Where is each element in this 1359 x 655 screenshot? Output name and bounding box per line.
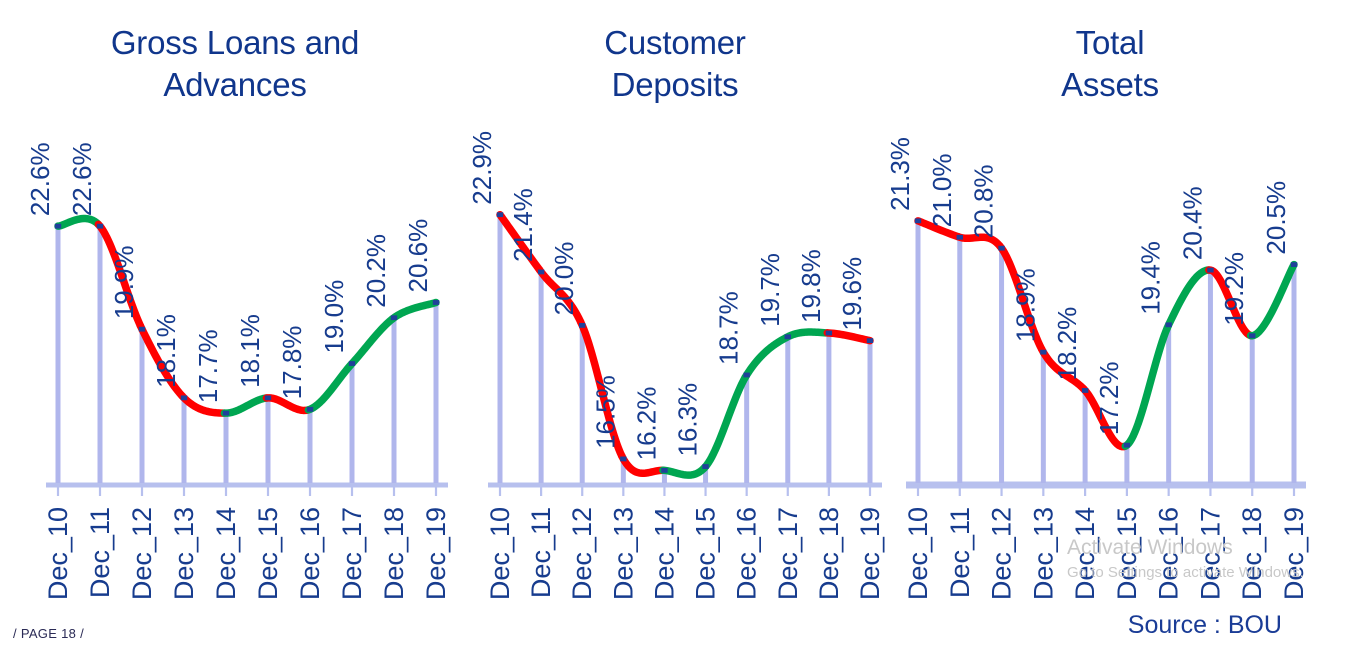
data-point-marker [223, 411, 229, 416]
data-point-marker [1291, 262, 1297, 267]
source-note: Source : BOU [1128, 611, 1282, 640]
series-segment [704, 378, 745, 469]
x-axis-category-label: Dec_13 [169, 507, 199, 600]
data-value-label: 21.0% [927, 154, 957, 228]
series-segment [58, 219, 98, 227]
data-value-label: 18.7% [714, 291, 744, 365]
x-axis-category-label: Dec_15 [691, 507, 721, 600]
data-value-label: 18.1% [151, 314, 181, 388]
data-value-label: 21.3% [885, 137, 915, 211]
data-value-label: 16.5% [590, 375, 620, 449]
data-point-marker [702, 464, 708, 469]
series-segment [308, 365, 350, 410]
series-segment [224, 398, 266, 413]
data-value-label: 22.6% [67, 142, 97, 216]
data-value-label: 22.6% [25, 142, 55, 216]
data-point-marker [1124, 443, 1130, 448]
data-value-label: 19.0% [319, 280, 349, 354]
x-axis-category-label: Dec_14 [211, 507, 241, 600]
x-axis-category-label: Dec_16 [732, 507, 762, 600]
data-point-marker [307, 407, 313, 412]
data-value-label: 19.2% [1219, 252, 1249, 326]
x-axis-category-label: Dec_13 [1028, 507, 1058, 600]
x-axis-category-label: Dec_14 [649, 507, 679, 600]
x-axis-category-label: Dec_17 [773, 507, 803, 600]
data-value-label: 20.4% [1177, 186, 1207, 260]
data-value-label: 18.1% [235, 314, 265, 388]
x-axis-category-label: Dec_15 [253, 507, 283, 600]
series-segment [1167, 270, 1209, 328]
data-point-marker [915, 218, 921, 223]
x-axis-category-label: Dec_18 [1237, 507, 1267, 600]
data-value-label: 21.4% [508, 188, 538, 262]
data-point-marker [1082, 388, 1088, 393]
x-axis-category-label: Dec_19 [421, 507, 451, 600]
data-value-label: 18.9% [1010, 268, 1040, 342]
slide-canvas: Gross Loans and Advances 22.6%22.6%19.9%… [0, 0, 1359, 655]
data-point-marker [826, 331, 832, 336]
page-marker: / PAGE 18 / [13, 626, 84, 641]
data-point-marker [139, 327, 145, 332]
data-point-marker [433, 300, 439, 305]
data-point-marker [1207, 268, 1213, 273]
data-value-label: 17.7% [193, 329, 223, 403]
x-axis-category-label: Dec_19 [1279, 507, 1309, 600]
data-value-label: 20.2% [361, 234, 391, 308]
data-point-marker [55, 224, 61, 229]
data-point-marker [998, 246, 1004, 251]
chart-panel-gross-loans: Gross Loans and Advances 22.6%22.6%19.9%… [0, 0, 470, 615]
data-point-marker [97, 224, 103, 229]
chart-plot-gross-loans: 22.6%22.6%19.9%18.1%17.7%18.1%17.8%19.0%… [0, 0, 470, 615]
data-point-marker [181, 395, 187, 400]
x-axis-category-label: Dec_10 [43, 507, 73, 600]
data-point-marker [620, 457, 626, 462]
data-point-marker [497, 212, 503, 217]
x-axis-category-label: Dec_10 [903, 507, 933, 600]
x-axis-category-label: Dec_16 [1154, 507, 1184, 600]
x-axis-category-label: Dec_17 [1195, 507, 1225, 600]
data-value-label: 17.2% [1094, 361, 1124, 435]
x-axis-category-label: Dec_12 [987, 507, 1017, 600]
chart-plot-customer-deposits: 22.9%21.4%20.0%16.5%16.2%16.3%18.7%19.7%… [455, 0, 895, 615]
series-segment [392, 302, 436, 318]
x-axis-category-label: Dec_10 [485, 507, 515, 600]
x-axis-category-label: Dec_14 [1070, 507, 1100, 600]
data-value-label: 17.8% [277, 326, 307, 400]
chart-plot-total-assets: 21.3%21.0%20.8%18.9%18.2%17.2%19.4%20.4%… [880, 0, 1340, 615]
series-segment [786, 332, 827, 338]
data-point-marker [1040, 350, 1046, 355]
data-value-label: 19.4% [1136, 241, 1166, 315]
data-value-label: 18.2% [1052, 307, 1082, 381]
data-value-label: 19.6% [837, 257, 867, 331]
series-segment [745, 338, 786, 378]
data-value-label: 22.9% [467, 131, 497, 205]
data-point-marker [957, 235, 963, 240]
data-value-label: 16.3% [673, 383, 703, 457]
x-axis-category-label: Dec_11 [945, 507, 975, 598]
data-point-marker [743, 373, 749, 378]
data-point-marker [1165, 322, 1171, 327]
x-axis-category-label: Dec_11 [85, 507, 115, 598]
x-axis-category-label: Dec_13 [608, 507, 638, 600]
data-value-label: 16.2% [631, 387, 661, 461]
series-segment [350, 319, 392, 365]
x-axis-category-label: Dec_12 [127, 507, 157, 600]
x-axis-category-label: Dec_15 [1112, 507, 1142, 600]
series-segment [663, 468, 704, 475]
data-value-label: 19.7% [755, 253, 785, 327]
x-axis-category-label: Dec_12 [567, 507, 597, 600]
data-point-marker [538, 270, 544, 275]
data-value-label: 20.6% [403, 219, 433, 293]
x-axis-category-label: Dec_17 [337, 507, 367, 600]
data-point-marker [579, 323, 585, 328]
data-value-label: 19.9% [109, 245, 139, 319]
x-axis-category-label: Dec_18 [814, 507, 844, 600]
series-segment [827, 333, 870, 341]
data-value-label: 20.5% [1261, 181, 1291, 255]
data-point-marker [785, 334, 791, 339]
chart-panel-customer-deposits: Customer Deposits 22.9%21.4%20.0%16.5%16… [455, 0, 895, 615]
x-axis-category-label: Dec_18 [379, 507, 409, 600]
data-point-marker [391, 315, 397, 320]
data-value-label: 20.8% [969, 164, 999, 238]
data-point-marker [867, 338, 873, 343]
data-point-marker [349, 361, 355, 366]
x-axis-category-label: Dec_11 [526, 507, 556, 598]
data-value-label: 19.8% [796, 249, 826, 323]
data-point-marker [265, 395, 271, 400]
series-segment [1251, 265, 1294, 336]
data-point-marker [661, 468, 667, 473]
data-value-label: 20.0% [549, 242, 579, 316]
data-point-marker [1249, 333, 1255, 338]
x-axis-category-label: Dec_16 [295, 507, 325, 600]
chart-panel-total-assets: Total Assets 21.3%21.0%20.8%18.9%18.2%17… [880, 0, 1340, 615]
series-segment [1125, 328, 1167, 446]
